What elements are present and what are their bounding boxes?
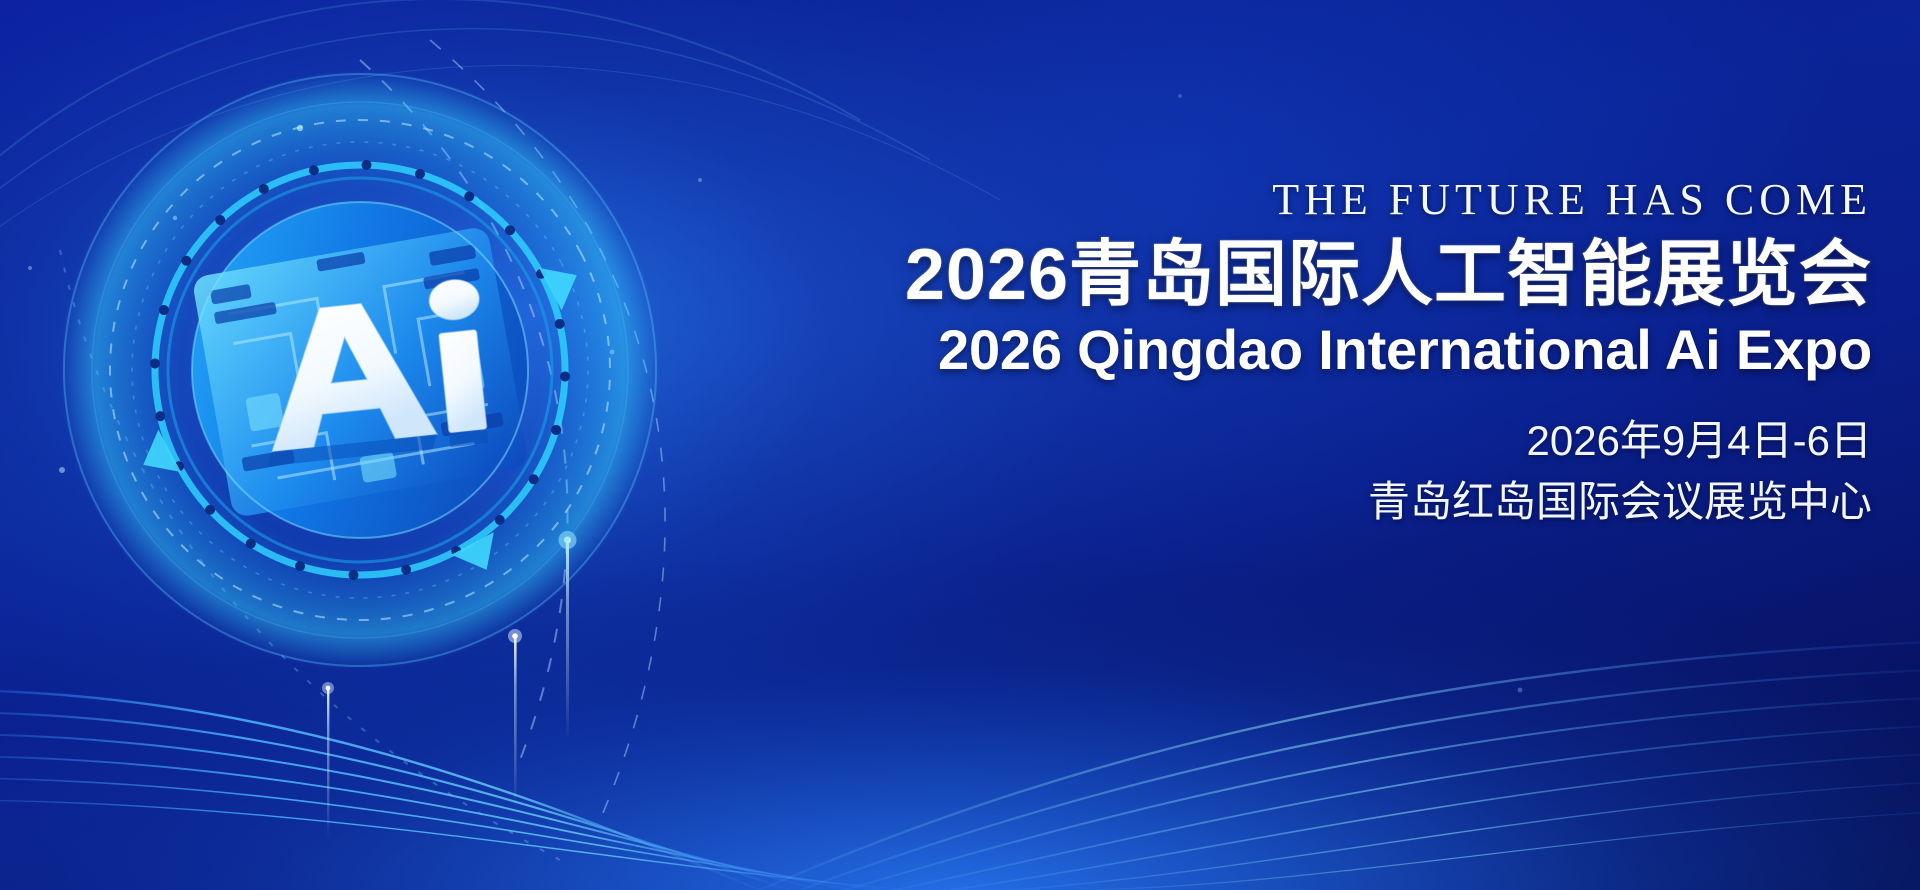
banner-title-chinese: 2026青岛国际人工智能展览会: [862, 238, 1872, 314]
banner-title-english: 2026 Qingdao International Ai Expo: [862, 320, 1872, 380]
event-venue: 青岛红岛国际会议展览中心: [862, 475, 1872, 530]
ai-emblem: [10, 70, 710, 690]
banner-text-block: THE FUTURE HAS COME 2026青岛国际人工智能展览会 2026…: [862, 178, 1872, 529]
banner-meta: 2026年9月4日-6日 青岛红岛国际会议展览中心: [862, 414, 1872, 529]
banner-tagline: THE FUTURE HAS COME: [862, 178, 1872, 222]
ai-expo-banner: THE FUTURE HAS COME 2026青岛国际人工智能展览会 2026…: [0, 0, 1920, 890]
event-date: 2026年9月4日-6日: [862, 414, 1872, 469]
